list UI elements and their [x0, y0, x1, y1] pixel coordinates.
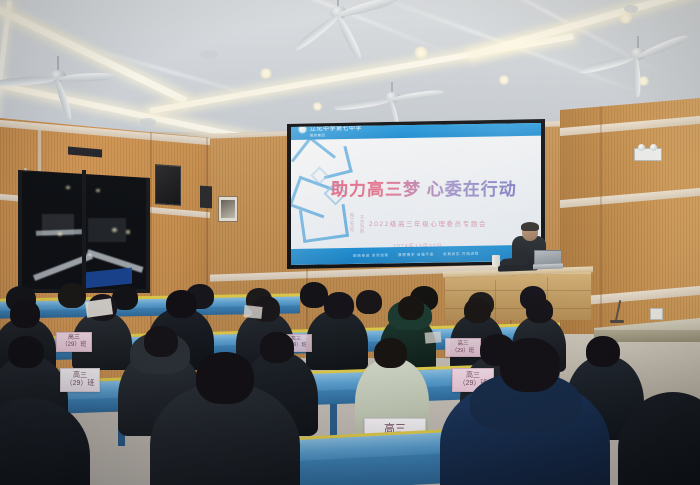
class-placard: 高三 （29）班 [445, 338, 481, 357]
slide-subtitle: 2022级高三年级心理委员专题会 [369, 218, 487, 228]
cup [492, 255, 500, 267]
laptop-keyboard[interactable] [533, 263, 563, 269]
ceiling-vent [624, 5, 638, 13]
ceiling-fan [576, 36, 696, 92]
placard-line2: （29）班 [62, 342, 87, 349]
emergency-light-lamp [638, 144, 645, 151]
placard-line1: 高三 [73, 372, 87, 380]
power-outlet [650, 308, 663, 320]
placard-line1: 高三 [466, 372, 480, 380]
ceiling-vent [140, 118, 156, 126]
paper-sheet [243, 305, 262, 319]
slide-footer-motto: 厚德博学 自强不息 [398, 252, 434, 258]
paper-sheet [425, 331, 442, 343]
slide-body: 助力高三梦 心委在行动 育工为先 千万为师 2022级高三年级心理委员专题会 2… [291, 139, 541, 249]
placard-line2: （29）班 [452, 348, 475, 354]
wall-speaker [200, 186, 212, 209]
ceiling-vent [200, 50, 218, 59]
school-sub-name: 教育集团 [310, 132, 325, 137]
placard-line2: （29）班 [66, 380, 95, 388]
window-mullion [82, 170, 86, 292]
framed-sign-image [221, 200, 235, 218]
presenter-hair [521, 222, 539, 231]
slide-footer-motto: 团结奋进 求实创新 [353, 253, 389, 259]
class-placard: 高三 （29）班 [56, 332, 92, 352]
downlight [259, 68, 273, 79]
slide-footer-motto: 求真务实 开拓进取 [443, 251, 479, 257]
downlight [618, 12, 633, 24]
microphone-base [610, 320, 624, 323]
downlight [498, 75, 510, 85]
class-placard: 高三 （29）班 [60, 368, 100, 392]
ceiling-fan [278, 0, 398, 54]
wall-speaker [155, 164, 181, 206]
ceiling-fan [0, 56, 120, 116]
placard-line1: 高三 [68, 335, 80, 342]
slide-verse-right: 千万为师 [349, 207, 365, 241]
downlight [312, 102, 323, 111]
projection-screen[interactable]: 助力高三梦 心委在行动 育工为先 千万为师 2022级高三年级心理委员专题会 2… [291, 123, 541, 265]
auditorium-photo: 助力高三梦 心委在行动 育工为先 千万为师 2022级高三年级心理委员专题会 2… [0, 0, 700, 485]
emergency-light-lamp [650, 144, 657, 151]
downlight [413, 46, 429, 59]
slide-title: 助力高三梦 心委在行动 [331, 175, 517, 200]
